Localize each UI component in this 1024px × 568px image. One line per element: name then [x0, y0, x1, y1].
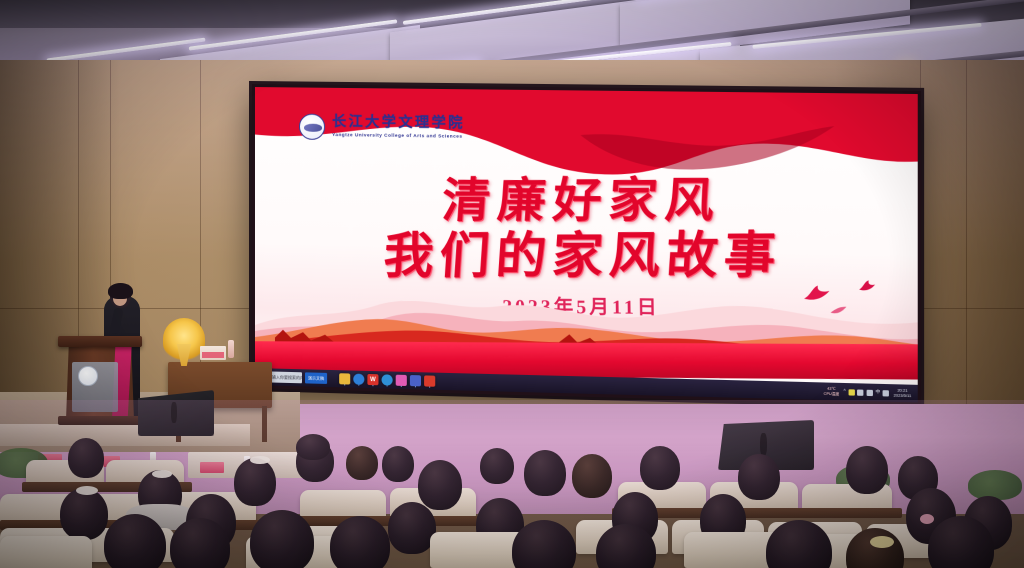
university-name-cn: 长江大学文理学院 — [332, 116, 465, 132]
audience-head — [330, 516, 390, 568]
led-display-screen[interactable]: 长江大学文理学院 Yangtze University College of A… — [252, 84, 921, 406]
taskbar-clock[interactable]: 20:21 2023/5/11 — [894, 388, 912, 398]
university-name-en: Yangtze University College of Arts and S… — [332, 133, 465, 139]
action-center-icon[interactable] — [883, 390, 889, 396]
audience-head — [738, 454, 780, 500]
gift-box — [200, 346, 226, 360]
clock-date: 2023/5/11 — [894, 393, 912, 398]
tray-icon-group[interactable]: ^ 中 — [844, 389, 890, 396]
file-explorer-icon[interactable] — [339, 373, 350, 384]
audience-head — [846, 446, 888, 494]
browser-icon[interactable] — [353, 374, 364, 385]
audience-head — [68, 438, 104, 478]
hair-clip-icon — [152, 470, 172, 478]
cpu-temperature-widget[interactable]: 43℃ CPU温度 — [824, 387, 840, 396]
audience-head — [512, 520, 576, 568]
audience-head — [234, 458, 276, 506]
wps-office-icon[interactable]: W — [367, 374, 378, 385]
cpu-temp-label: CPU温度 — [824, 391, 840, 396]
audience-head — [296, 434, 330, 460]
slide-headline: 清廉好家风 我们的家风故事 — [255, 171, 918, 290]
audience-head — [250, 510, 314, 568]
audience-head — [346, 446, 378, 480]
hair-tie-icon — [920, 514, 934, 524]
audience-head — [480, 448, 514, 484]
lectern-emblem-icon — [78, 366, 98, 386]
audience-area — [0, 432, 1024, 568]
volume-icon[interactable] — [866, 389, 872, 395]
university-logo: 长江大学文理学院 Yangtze University College of A… — [299, 114, 465, 142]
system-tray[interactable]: 43℃ CPU温度 ^ 中 20:21 2023/5/11 — [824, 387, 915, 399]
shield-warning-icon[interactable] — [848, 389, 854, 395]
lectern-base — [58, 416, 144, 425]
media-player-icon[interactable] — [396, 375, 407, 386]
audience-head — [640, 446, 680, 490]
audience-head — [382, 446, 414, 482]
audience-head — [60, 488, 108, 540]
photo-scene: 长江大学文理学院 Yangtze University College of A… — [0, 0, 1024, 568]
network-icon[interactable] — [857, 389, 863, 395]
auditorium-seat — [0, 536, 92, 568]
water-bottle — [228, 340, 234, 358]
lectern-top-surface — [58, 336, 142, 347]
presentation-icon[interactable] — [424, 375, 435, 386]
show-hidden-icons-chevron-up-icon[interactable]: ^ — [844, 389, 846, 394]
taskbar-active-window[interactable]: 演示文稿 — [305, 372, 327, 384]
led-screen-content: 长江大学文理学院 Yangtze University College of A… — [255, 87, 918, 402]
hair-clip-icon — [250, 456, 270, 464]
university-seal-icon — [299, 114, 325, 140]
ime-language-icon[interactable]: 中 — [876, 390, 881, 395]
audience-head — [418, 460, 462, 510]
cloud-drive-icon[interactable] — [410, 375, 421, 386]
audience-head — [524, 450, 566, 496]
audience-head — [388, 502, 436, 554]
edge-browser-icon[interactable] — [382, 374, 393, 385]
headline-line-1: 清廉好家风 — [255, 175, 918, 227]
presenter-hair — [108, 283, 133, 299]
hair-clip-icon — [76, 486, 98, 495]
audience-head — [572, 454, 612, 498]
hair-band-icon — [870, 536, 894, 548]
audience-head — [104, 514, 166, 568]
